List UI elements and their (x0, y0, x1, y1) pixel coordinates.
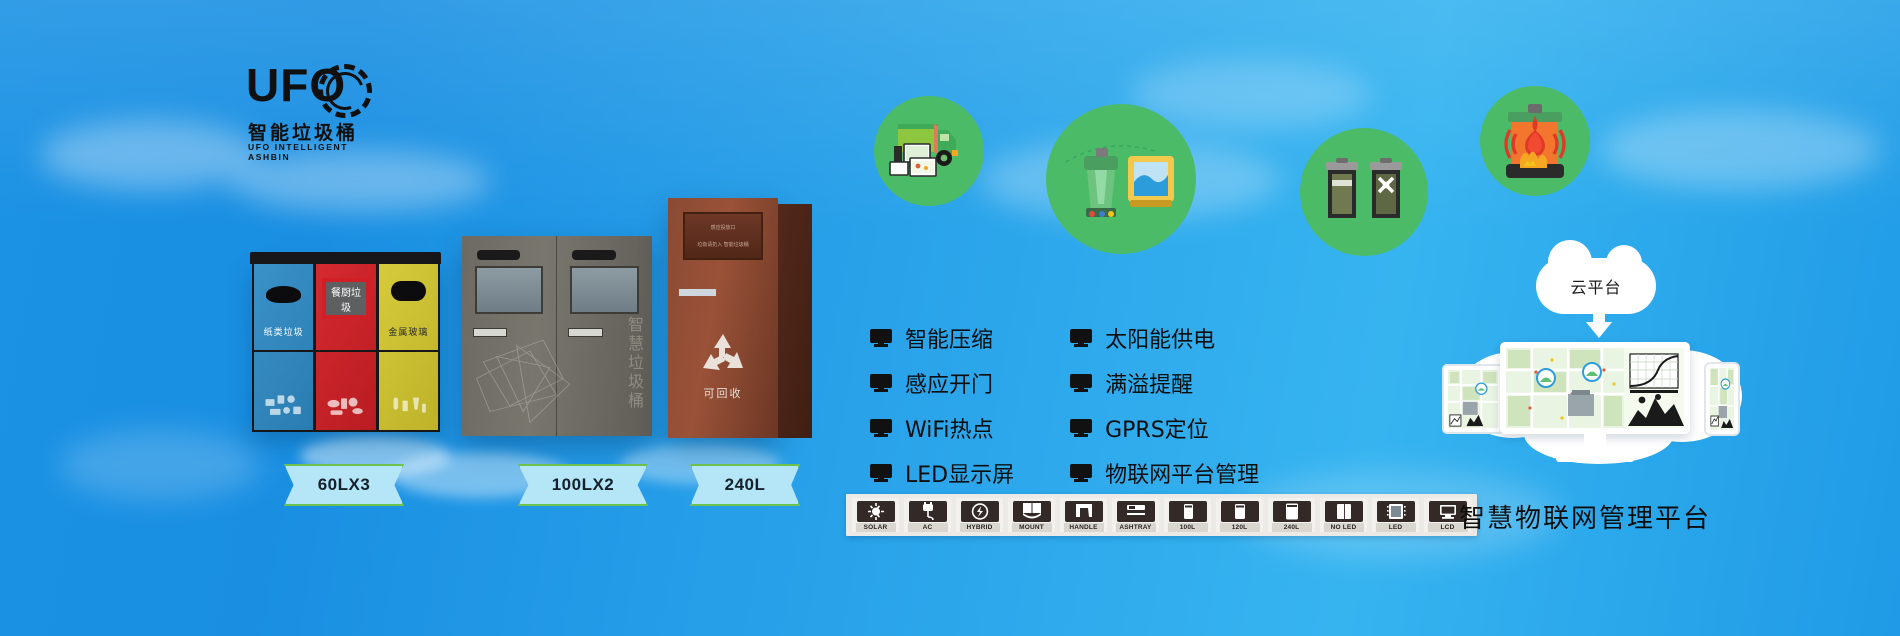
spec-chip-solar[interactable]: SOLAR (852, 498, 899, 532)
banner-canvas: UFO 智能垃圾桶 UFO INTELLIGENT ASHBIN 纸类垃圾 (0, 0, 1900, 636)
spec-chip-label: 120L (1220, 523, 1260, 532)
feature-label: WiFi热点 (905, 412, 994, 444)
monitor-neck (1584, 434, 1606, 456)
spec-chip-label: NO LED (1324, 523, 1364, 532)
feature-label: 太阳能供电 (1105, 322, 1215, 354)
bin-fill-sensor-icon (1046, 104, 1196, 254)
handle-icon (1065, 501, 1103, 522)
feature-label: GPRS定位 (1105, 412, 1209, 444)
feature-column-right: 太阳能供电 满溢提醒 GPRS定位 物联网平台管理 (1070, 322, 1259, 489)
capacity-badge-brown: 240L (690, 464, 800, 506)
monitor-bullet-icon (1070, 374, 1092, 392)
feature-item: 智能压缩 (870, 322, 1014, 354)
iot-platform-illustration: 云平台 (1440, 300, 1740, 480)
tablet-device (1442, 364, 1504, 434)
paper-waste-icon (261, 385, 306, 422)
metal-glass-waste-icon (386, 385, 431, 422)
compaction-circle (1300, 128, 1428, 256)
cloud-decoration (40, 120, 260, 190)
kitchen-waste-icon (323, 385, 368, 422)
bin-display-panel (475, 266, 543, 314)
bin-compartment-kitchen: 餐厨垃圾 (314, 262, 376, 432)
bin-slot (266, 286, 302, 303)
bin-compartment-label: 金属玻璃 (379, 325, 438, 338)
bin-lower (379, 350, 438, 430)
cloud-platform-label: 云平台 (1536, 274, 1656, 298)
feature-item: WiFi热点 (870, 412, 1014, 444)
ashtray-icon (1117, 501, 1155, 522)
monitor-bullet-icon (1070, 329, 1092, 347)
capacity-label: 60LX3 (318, 475, 371, 495)
bin-indicator-bar (477, 250, 520, 260)
bin-card-slot (679, 289, 716, 296)
feature-list: 智能压缩 感应开门 WiFi热点 LED显示屏 太阳能供电 满溢提醒 (870, 322, 1259, 489)
feature-column-left: 智能压缩 感应开门 WiFi热点 LED显示屏 (870, 322, 1014, 489)
tablet-map-chart-icon (1448, 370, 1498, 428)
spec-chip-label: 100L (1168, 523, 1208, 532)
fire-alarm-circle (1480, 86, 1590, 196)
dashboard-map-and-charts-icon (1506, 348, 1684, 428)
spec-chip-ac[interactable]: AC (904, 498, 951, 532)
spec-chip-label: SOLAR (856, 523, 896, 532)
spec-chip-no-led[interactable]: NO LED (1320, 498, 1367, 532)
led-panel-icon (1377, 501, 1415, 522)
bin-display-panel: 感应投放口 垃圾请扔入 智能垃圾桶 (683, 212, 762, 260)
spec-chip-led[interactable]: LED (1372, 498, 1419, 532)
bin-indicator-bar (572, 250, 616, 260)
platform-caption: 智慧物联网管理平台 (1420, 498, 1750, 535)
power-plug-icon (909, 501, 947, 522)
recycle-icon (699, 332, 747, 376)
monitor-bullet-icon (1070, 464, 1092, 482)
polygon-pattern-decoration (470, 318, 603, 428)
capacity-label: 240L (725, 475, 766, 495)
bin-upper: 纸类垃圾 (254, 264, 313, 350)
sun-icon (857, 501, 895, 522)
spec-chip-120l[interactable]: 120L (1216, 498, 1263, 532)
spec-chip-hybrid[interactable]: HYBRID (956, 498, 1003, 532)
download-arrow-icon (1586, 322, 1612, 338)
bin-120l-icon (1221, 501, 1259, 522)
cloud-decoration (1600, 110, 1880, 190)
hybrid-power-icon (961, 501, 999, 522)
spec-chip-label: 240L (1272, 523, 1312, 532)
feature-label: LED显示屏 (905, 457, 1014, 489)
feature-item: LED显示屏 (870, 457, 1014, 489)
bin-sensor-circle (1046, 104, 1196, 254)
spec-chip-mount[interactable]: MOUNT (1008, 498, 1055, 532)
feature-item: 物联网平台管理 (1070, 457, 1259, 489)
spec-chip-ashtray[interactable]: ASHTRAY (1112, 498, 1159, 532)
bin-lower (316, 350, 375, 430)
bin-display-line2: 垃圾请扔入 智能垃圾桶 (685, 241, 760, 248)
spec-chip-label: HANDLE (1064, 523, 1104, 532)
bin-upper: 餐厨垃圾 (316, 264, 375, 350)
spec-chip-100l[interactable]: 100L (1164, 498, 1211, 532)
bin-side-panel (778, 204, 812, 438)
twin-compaction-bin-icon (1300, 128, 1428, 256)
spec-chip-handle[interactable]: HANDLE (1060, 498, 1107, 532)
monitor-base (1556, 455, 1634, 462)
bin-compartment-metal-glass: 金属玻璃 (377, 262, 440, 432)
bin-compartment-label: 纸类垃圾 (254, 325, 313, 338)
spec-chip-label: MOUNT (1012, 523, 1052, 532)
capacity-label: 100LX2 (552, 475, 615, 495)
garbage-truck-and-devices-icon (874, 96, 984, 206)
feature-label: 物联网平台管理 (1105, 457, 1259, 489)
spec-chip-label: LED (1376, 523, 1416, 532)
bin-slot (391, 281, 427, 301)
spec-chip-label: AC (908, 523, 948, 532)
cloud-decoration (60, 430, 260, 500)
feature-label: 智能压缩 (905, 322, 993, 354)
wall-mount-icon (1013, 501, 1051, 522)
spec-chip-label: ASHTRAY (1116, 523, 1156, 532)
bin-compartment-label: 餐厨垃圾 (326, 284, 365, 314)
feature-item: 满溢提醒 (1070, 367, 1259, 399)
bin-lower (254, 350, 313, 430)
monitor-bullet-icon (870, 374, 892, 392)
bin-display-line1: 感应投放口 (685, 224, 760, 231)
twin-bin-vertical-text: 智慧垃圾桶 (622, 316, 646, 411)
cloud-platform-badge: 云平台 (1536, 258, 1656, 314)
bin-display-panel: 餐厨垃圾 (322, 278, 369, 319)
bin-display-panel (570, 266, 638, 314)
brown-bin-recycle-label: 可回收 (668, 385, 778, 401)
product-twin-bin: 智慧垃圾桶 (462, 236, 652, 436)
phone-device (1704, 362, 1740, 436)
bin-upper: 金属玻璃 (379, 264, 438, 350)
feature-item: GPRS定位 (1070, 412, 1259, 444)
monitor-bullet-icon (870, 419, 892, 437)
capacity-badge-tri: 60LX3 (284, 464, 404, 506)
brand-en-name: UFO INTELLIGENT ASHBIN (248, 142, 376, 162)
desktop-monitor (1500, 342, 1690, 434)
spec-chip-240l[interactable]: 240L (1268, 498, 1315, 532)
phone-map-chart-icon (1710, 368, 1734, 430)
capacity-badge-twin: 100LX2 (518, 464, 648, 506)
no-led-panel-icon (1325, 501, 1363, 522)
monitor-bullet-icon (870, 464, 892, 482)
bin-240l-icon (1273, 501, 1311, 522)
feature-item: 感应开门 (870, 367, 1014, 399)
monitor-screen (1506, 348, 1684, 428)
bin-100l-icon (1169, 501, 1207, 522)
monitor-bullet-icon (1070, 419, 1092, 437)
feature-item: 太阳能供电 (1070, 322, 1259, 354)
phone-screen (1710, 368, 1734, 430)
feature-label: 满溢提醒 (1105, 367, 1193, 399)
brand-cn-name: 智能垃圾桶 (248, 118, 358, 145)
fleet-management-circle (874, 96, 984, 206)
product-brown-bin: 感应投放口 垃圾请扔入 智能垃圾桶 可回收 (668, 198, 778, 438)
tablet-screen (1448, 370, 1498, 428)
spec-chip-label: HYBRID (960, 523, 1000, 532)
brand-logo: UFO 智能垃圾桶 UFO INTELLIGENT ASHBIN (246, 60, 376, 156)
bin-fire-alarm-icon (1480, 86, 1590, 196)
spec-option-strip: SOLAR AC HYBRID MOUNT (846, 494, 1477, 536)
monitor-bullet-icon (870, 329, 892, 347)
product-tri-bin: 纸类垃圾 餐厨垃圾 (252, 262, 440, 432)
bin-compartment-paper: 纸类垃圾 (252, 262, 314, 432)
feature-label: 感应开门 (905, 367, 993, 399)
